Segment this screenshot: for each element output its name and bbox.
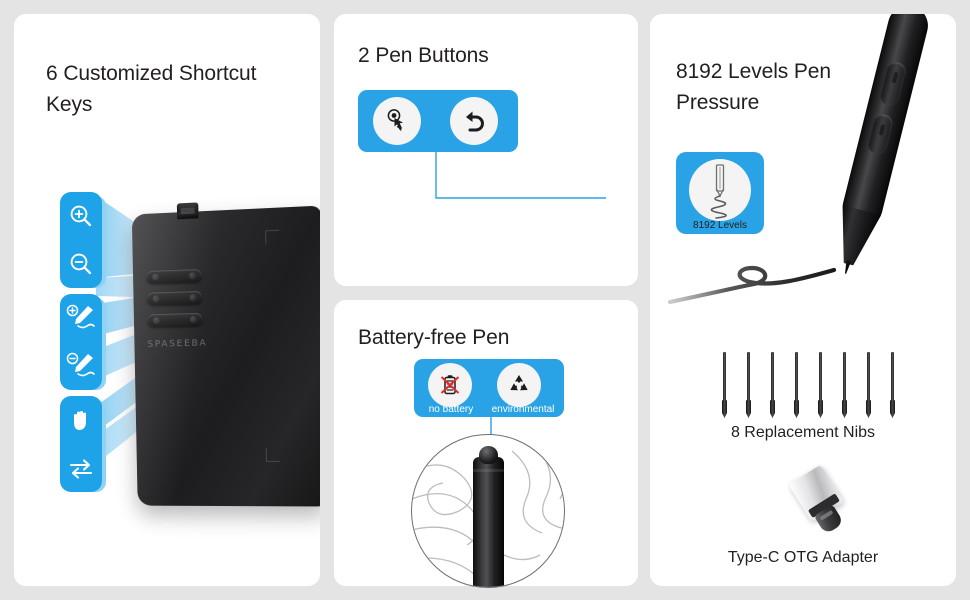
battery-free-badge-group: no battery environmental [414,359,564,417]
panel-shortcut-keys: 6 Customized Shortcut Keys SPASEEBA [14,14,320,586]
hand-pan-icon [68,408,94,434]
infographic-board: 6 Customized Shortcut Keys SPASEEBA [0,0,970,600]
sidebar-item-pan-switch-keys[interactable] [60,396,102,492]
pen-illustration-clip [334,14,638,286]
panel-battery-free-title: Battery-free Pen [358,322,608,353]
pressure-levels-badge-label: 8192 Levels [676,220,764,231]
pressure-stroke-curve [668,254,918,334]
sidebar-item-zoom-keys[interactable] [60,192,102,288]
nib-item [722,352,727,418]
sidebar-item-brush-size-keys[interactable] [60,294,102,390]
stylus-pen-tail-end [473,457,504,588]
nib-item [746,352,751,418]
usb-port-icon [177,202,199,219]
brush-decrease-icon [66,352,96,380]
badge-circle [689,159,751,221]
zoom-out-icon [68,251,94,277]
badge-environmental-label: environmental [484,404,562,415]
graphics-tablet-device: SPASEEBA [132,206,320,507]
replacement-nibs-caption: 8 Replacement Nibs [650,424,956,442]
brush-increase-icon [66,304,96,332]
tablet-brand-logo: SPASEEBA [147,339,207,350]
tablet-shortcut-rocker[interactable] [147,291,202,306]
panel-shortcut-keys-title: 6 Customized Shortcut Keys [46,58,296,120]
nib-item [890,352,895,418]
recycle-icon [505,371,533,399]
no-battery-icon [436,371,464,399]
nib-item [818,352,823,418]
nib-item [770,352,775,418]
tablet-shortcut-rocker[interactable] [146,269,201,284]
active-area-corner-mark [265,230,279,245]
nib-item [866,352,871,418]
panel-pen-buttons: 2 Pen Buttons [334,14,638,286]
replacement-nibs-group [722,352,898,418]
swap-arrows-icon [67,458,95,480]
badge-environmental[interactable] [497,363,541,407]
pressure-levels-badge: 8192 Levels [676,152,764,234]
nib-item [842,352,847,418]
badge-no-battery[interactable] [428,363,472,407]
nib-scribble-icon [689,159,751,221]
tablet-shortcut-rocker[interactable] [147,313,203,327]
zoom-in-icon [68,203,94,229]
active-area-corner-mark [266,448,280,462]
otg-adapter-caption: Type-C OTG Adapter [650,549,956,567]
badge-no-battery-label: no battery [418,404,484,415]
nib-item [794,352,799,418]
pen-tail-magnifier [411,434,565,588]
stylus-pen-pressure [827,14,933,279]
